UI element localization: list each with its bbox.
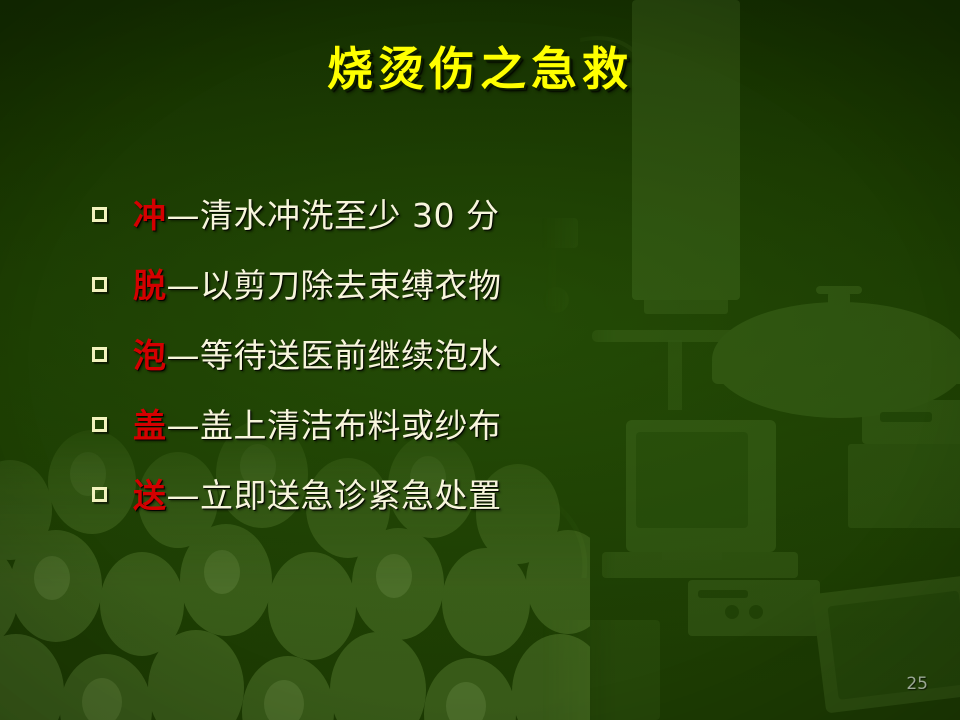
presentation-slide: 烧烫伤之急救 冲—清水冲洗至少 30 分 脱—以剪刀除去束缚衣物 泡—等待送医前… [0,0,960,720]
bullet-description: —等待送医前继续泡水 [167,336,502,375]
hollow-square-bullet-icon [92,207,107,222]
bullet-keyword: 盖 [133,406,167,445]
list-item: 送—立即送急诊紧急处置 [92,458,892,528]
hollow-square-bullet-icon [92,277,107,292]
bullet-text: 泡—等待送医前继续泡水 [133,329,502,377]
hollow-square-bullet-icon [92,487,107,502]
bullet-keyword: 泡 [133,336,167,375]
slide-title: 烧烫伤之急救 [0,44,960,95]
bullet-keyword: 脱 [133,266,167,305]
bullet-description: —立即送急诊紧急处置 [167,476,502,515]
bullet-list: 冲—清水冲洗至少 30 分 脱—以剪刀除去束缚衣物 泡—等待送医前继续泡水 盖—… [92,178,892,528]
bullet-text: 冲—清水冲洗至少 30 分 [133,189,499,237]
hollow-square-bullet-icon [92,347,107,362]
hollow-square-bullet-icon [92,417,107,432]
bullet-text: 盖—盖上清洁布料或纱布 [133,399,502,447]
list-item: 盖—盖上清洁布料或纱布 [92,388,892,458]
bullet-description: —盖上清洁布料或纱布 [167,406,502,445]
page-number: 25 [906,674,928,694]
bullet-description: —清水冲洗至少 30 分 [167,196,500,235]
list-item: 泡—等待送医前继续泡水 [92,318,892,388]
bullet-keyword: 送 [133,476,167,515]
list-item: 脱—以剪刀除去束缚衣物 [92,248,892,318]
bullet-text: 脱—以剪刀除去束缚衣物 [133,259,502,307]
list-item: 冲—清水冲洗至少 30 分 [92,178,892,248]
bullet-description: —以剪刀除去束缚衣物 [167,266,502,305]
bullet-keyword: 冲 [133,196,167,235]
bullet-text: 送—立即送急诊紧急处置 [133,469,502,517]
